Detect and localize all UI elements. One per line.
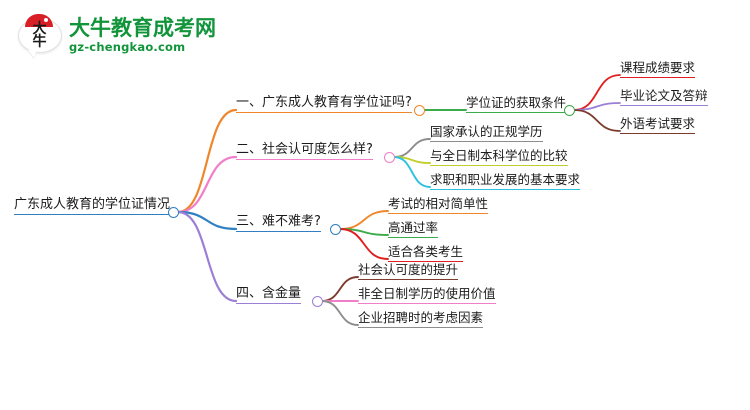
leaf-node-1-1-3[interactable]: 外语考试要求 [620, 116, 695, 134]
sub-node-4-2[interactable]: 非全日制学历的使用价值 [358, 286, 496, 304]
sub-node-3-1[interactable]: 考试的相对简单性 [388, 196, 488, 214]
sub-node-2-2[interactable]: 与全日制本科学位的比较 [430, 148, 568, 166]
branch-node-2[interactable]: 二、社会认可度怎么样? [236, 142, 373, 160]
sub-node-3-2[interactable]: 高通过率 [388, 220, 438, 238]
sub-node-4-1[interactable]: 社会认可度的提升 [358, 262, 458, 280]
branch-connector-4[interactable] [312, 296, 323, 307]
sub-connector-1-1[interactable] [564, 105, 575, 116]
branch-connector-2[interactable] [384, 152, 395, 163]
leaf-node-1-1-2[interactable]: 毕业论文及答辩 [620, 88, 708, 106]
branch-node-4[interactable]: 四、含金量 [236, 286, 301, 304]
sub-node-1-1[interactable]: 学位证的获取条件 [466, 95, 566, 113]
leaf-node-1-1-1[interactable]: 课程成绩要求 [620, 60, 695, 78]
branch-node-3[interactable]: 三、难不难考? [236, 214, 321, 232]
branch-connector-3[interactable] [330, 224, 341, 235]
mindmap: 广东成人教育的学位证情况一、广东成人教育有学位证吗?学位证的获取条件课程成绩要求… [0, 0, 750, 410]
sub-node-3-3[interactable]: 适合各类考生 [388, 244, 463, 262]
root-node[interactable]: 广东成人教育的学位证情况 [14, 197, 170, 215]
sub-node-4-3[interactable]: 企业招聘时的考虑因素 [358, 310, 483, 328]
root-connector[interactable] [168, 207, 179, 218]
branch-connector-1[interactable] [414, 105, 425, 116]
sub-node-2-1[interactable]: 国家承认的正规学历 [430, 124, 543, 142]
sub-node-2-3[interactable]: 求职和职业发展的基本要求 [430, 172, 580, 190]
branch-node-1[interactable]: 一、广东成人教育有学位证吗? [236, 95, 412, 113]
